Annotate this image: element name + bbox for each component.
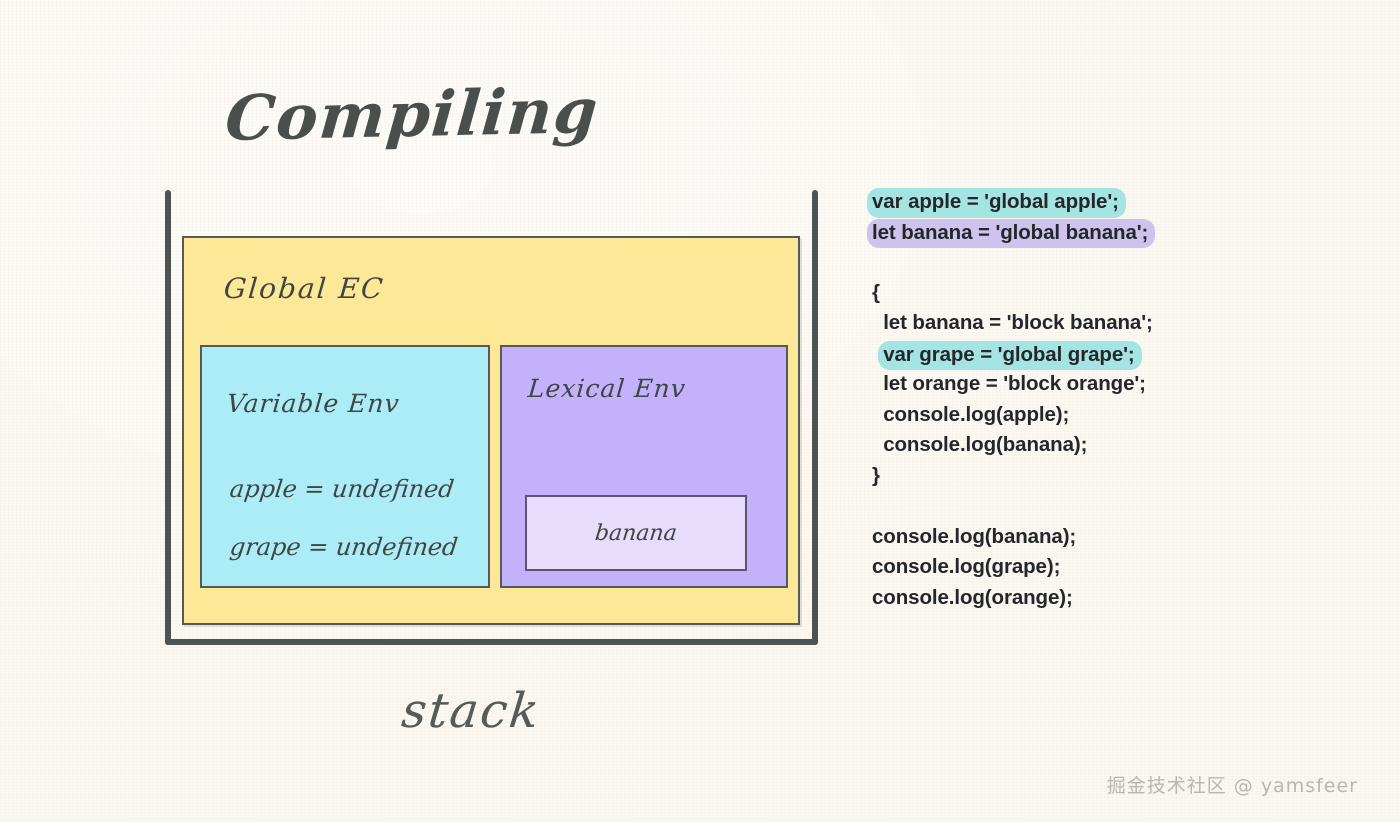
lexical-environment-box: Lexical Env banana xyxy=(500,345,788,588)
code-highlight-cyan: var apple = 'global apple'; xyxy=(867,186,1126,219)
code-line: let banana = 'block banana'; xyxy=(872,308,1352,339)
stack-caption: stack xyxy=(399,683,543,739)
global-ec-label: Global EC xyxy=(223,272,386,305)
code-line: var apple = 'global apple'; xyxy=(872,186,1352,217)
variable-env-label: Variable Env xyxy=(226,389,401,418)
lexical-env-label: Lexical Env xyxy=(527,374,687,403)
code-line: console.log(banana); xyxy=(872,430,1352,461)
code-line: let orange = 'block orange'; xyxy=(872,369,1352,400)
code-line: var grape = 'global grape'; xyxy=(872,339,1352,370)
code-highlight-purple: let banana = 'global banana'; xyxy=(867,217,1155,250)
code-line: console.log(orange); xyxy=(872,583,1352,614)
stack-wall-bottom xyxy=(165,639,818,645)
code-line: console.log(banana); xyxy=(872,522,1352,553)
stack-wall-left xyxy=(165,190,171,645)
code-line xyxy=(872,491,1352,522)
code-highlight-cyan: var grape = 'global grape'; xyxy=(878,339,1141,372)
code-line xyxy=(872,247,1352,278)
variable-env-binding-grape: grape = undefined xyxy=(228,533,459,561)
code-line: { xyxy=(872,278,1352,309)
code-line: console.log(grape); xyxy=(872,552,1352,583)
code-line: console.log(apple); xyxy=(872,400,1352,431)
code-line: } xyxy=(872,461,1352,492)
stack-wall-right xyxy=(812,190,818,645)
watermark: 掘金技术社区 @ yamsfeer xyxy=(1107,771,1358,798)
lexical-env-binding-box: banana xyxy=(525,495,747,571)
diagram-stage: Compiling Global EC Variable Env apple =… xyxy=(0,0,1400,822)
variable-env-binding-apple: apple = undefined xyxy=(228,475,455,503)
page-title: Compiling xyxy=(223,74,602,155)
code-line: let banana = 'global banana'; xyxy=(872,217,1352,248)
lexical-env-binding-banana: banana xyxy=(594,521,678,546)
variable-environment-box: Variable Env apple = undefined grape = u… xyxy=(200,345,490,588)
code-listing: var apple = 'global apple';let banana = … xyxy=(872,186,1352,613)
